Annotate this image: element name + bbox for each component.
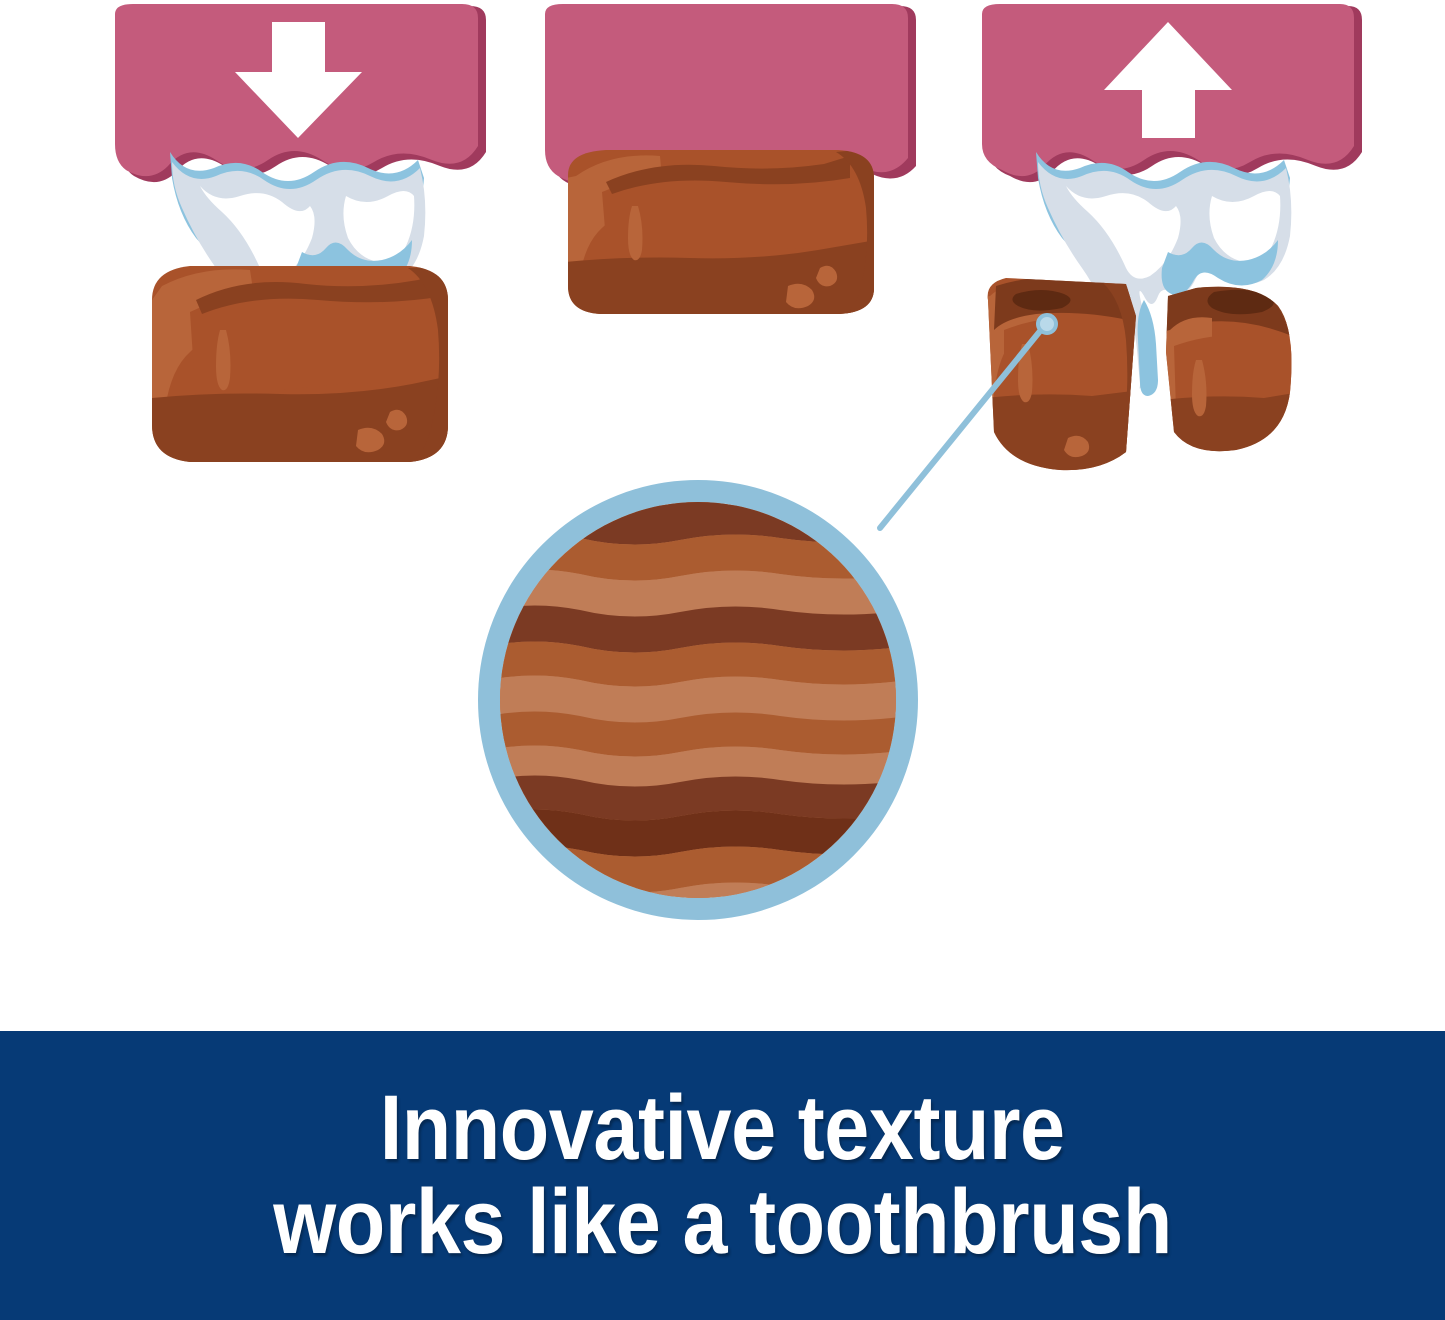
chew-fragment-right	[1160, 282, 1302, 462]
diagram-svg	[0, 0, 1445, 1031]
panel-lift-up	[980, 4, 1362, 476]
callout-anchor-dot	[1038, 315, 1056, 333]
caption-line-1: Innovative texture	[380, 1082, 1065, 1176]
dental-chew-texture-diagram	[0, 0, 1445, 1031]
caption-line-2: works like a toothbrush	[273, 1176, 1172, 1270]
chew-frag-right-shadow	[1160, 392, 1300, 462]
tooth-root-blue-3	[1138, 300, 1158, 396]
panel-press-down	[115, 4, 486, 466]
caption-band: Innovative texture works like a toothbru…	[0, 1031, 1445, 1320]
chew-whole	[150, 266, 452, 466]
chew-frag-left-shadow	[984, 390, 1140, 476]
screenshot-root: Innovative texture works like a toothbru…	[0, 0, 1445, 1320]
texture-magnifier	[480, 491, 920, 950]
chew-compressed	[564, 148, 878, 320]
panel-bite-through	[545, 4, 916, 320]
